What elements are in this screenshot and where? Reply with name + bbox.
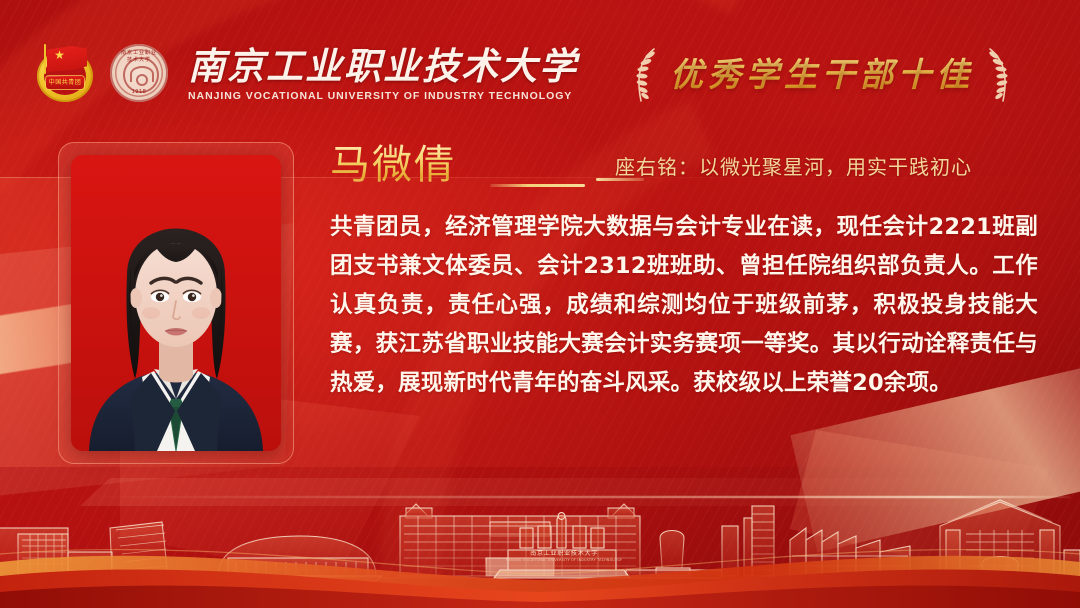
bottom-wave-ribbons: [0, 536, 1080, 608]
student-bio: 共青团员，经济管理学院大数据与会计专业在读，现任会计2221班副团支书兼文体委员…: [330, 208, 1038, 403]
university-name-cn: 南京工业职业技术大学: [188, 45, 578, 87]
skyline-glow-line: [90, 496, 1070, 498]
name-and-motto-row: 马微倩 座右铭：以微光聚星河，用实干践初心: [330, 142, 1050, 190]
student-name: 马微倩: [330, 142, 456, 188]
poster-header: ★ 中国共青团 南京工业职业技术大学 1918 南京工业职业技术大学 NANJI…: [0, 0, 1080, 120]
award-title-banner: 优秀学生干部十佳: [612, 44, 1032, 106]
student-motto: 座右铭：以微光聚星河，用实干践初心: [615, 152, 972, 182]
communist-youth-league-emblem-icon: ★ 中国共青团: [34, 42, 96, 104]
portrait-illustration: [71, 155, 281, 451]
university-seal-year: 1918: [110, 89, 168, 95]
logo-group: ★ 中国共青团 南京工业职业技术大学 1918 南京工业职业技术大学 NANJI…: [34, 42, 578, 104]
cyl-emblem-band-text: 中国共青团: [46, 76, 84, 89]
laurel-left-icon: [630, 46, 660, 104]
laurel-right-icon: [984, 46, 1014, 104]
university-name-en: NANJING VOCATIONAL UNIVERSITY OF INDUSTR…: [188, 90, 578, 102]
university-seal-icon: 南京工业职业技术大学 1918: [110, 44, 168, 102]
student-photo: [71, 155, 281, 451]
university-wordmark: 南京工业职业技术大学 NANJING VOCATIONAL UNIVERSITY…: [188, 45, 578, 102]
student-photo-container: [58, 142, 294, 464]
name-underline: [490, 184, 585, 187]
award-title: 优秀学生干部十佳: [670, 47, 974, 103]
star-icon: ★: [54, 50, 65, 61]
wave-svg: [0, 536, 1080, 608]
poster-canvas: ★ 中国共青团 南京工业职业技术大学 1918 南京工业职业技术大学 NANJI…: [0, 0, 1080, 608]
